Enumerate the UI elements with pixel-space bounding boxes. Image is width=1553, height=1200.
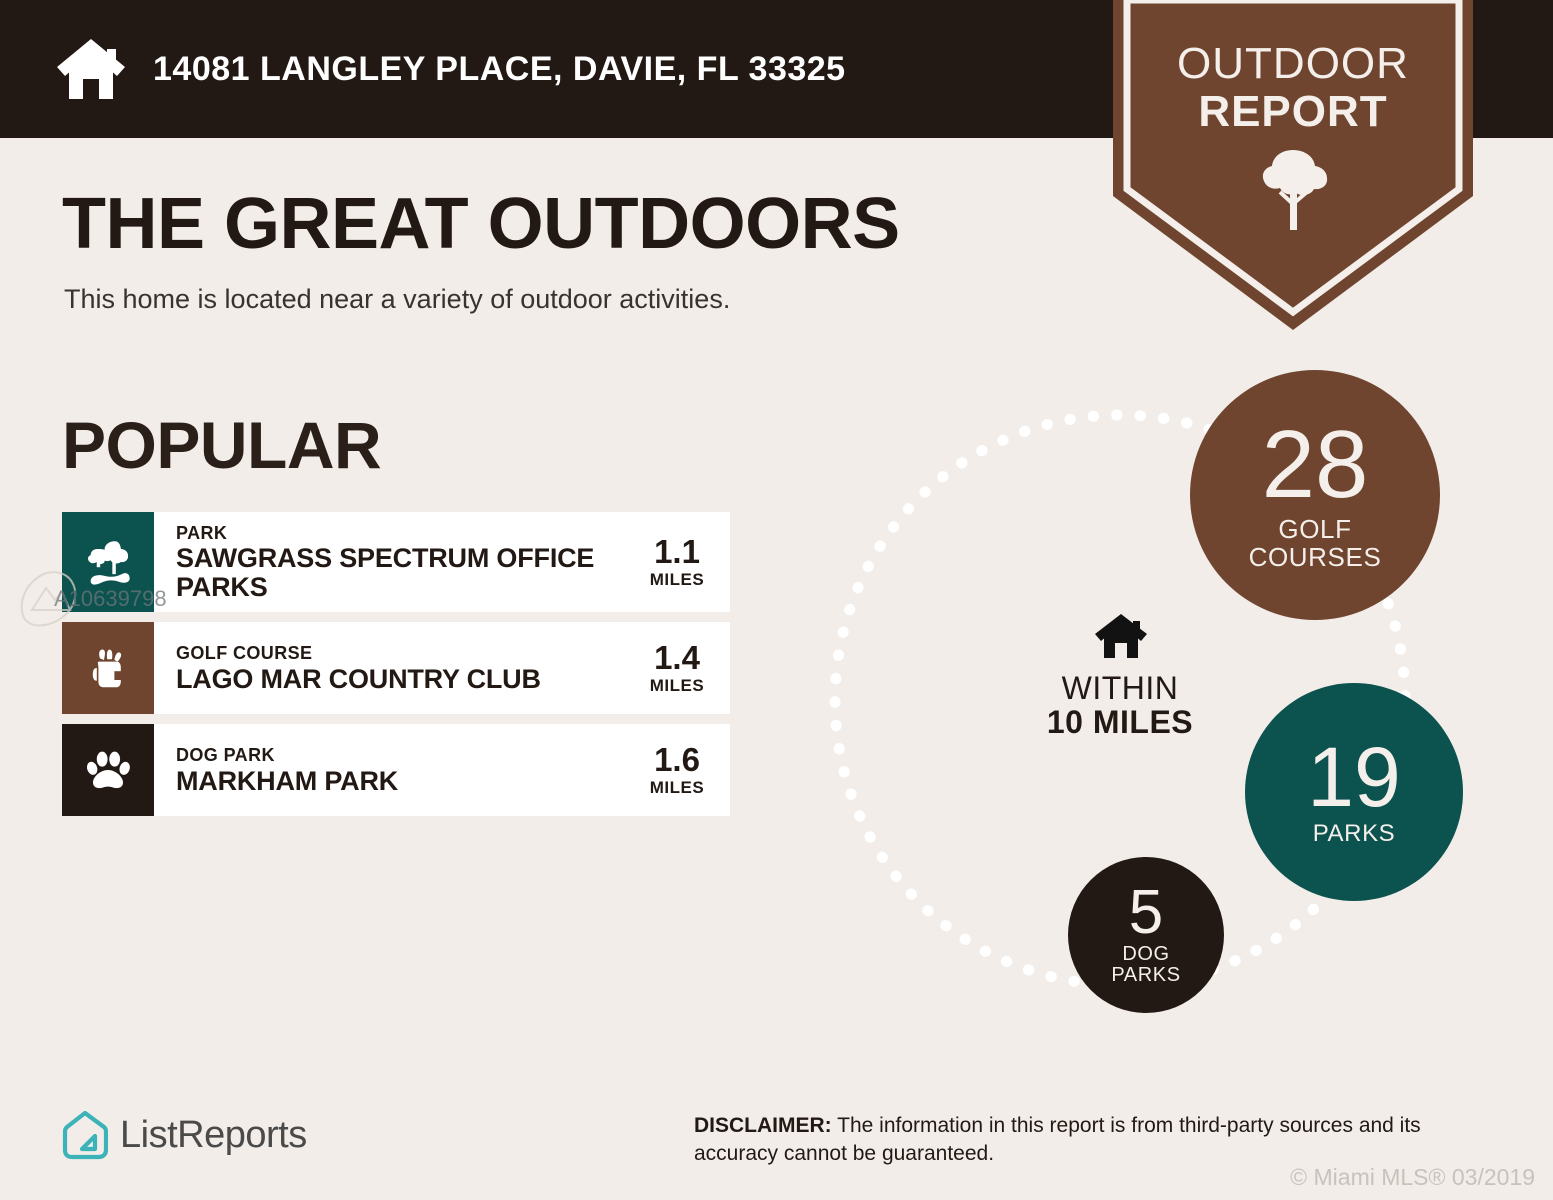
stat-circle-golf-courses: 28 GOLF COURSES (1190, 370, 1440, 620)
outdoor-report-page: 14081 LANGLEY PLACE, DAVIE, FL 33325 OUT… (0, 0, 1553, 1200)
stat-label-line-1: GOLF (1249, 516, 1382, 543)
list-item-distance: 1.6 MILES (638, 743, 716, 798)
list-item-distance: 1.4 MILES (638, 641, 716, 696)
home-icon (1093, 612, 1149, 660)
distance-unit: MILES (638, 570, 716, 590)
list-item-name: MARKHAM PARK (176, 767, 398, 796)
stat-label: GOLF COURSES (1249, 516, 1382, 571)
listreports-wordmark: ListReports (120, 1114, 307, 1157)
mls-copyright: © Miami MLS® 03/2019 (1290, 1164, 1535, 1191)
stat-value: 5 (1129, 884, 1163, 943)
list-item-texts: GOLF COURSE LAGO MAR COUNTRY CLUB (176, 642, 541, 694)
page-title: THE GREAT OUTDOORS (62, 188, 900, 260)
stat-circle-dog-parks: 5 DOG PARKS (1068, 857, 1224, 1013)
distance-value: 1.6 (638, 743, 716, 776)
stat-label: PARKS (1313, 821, 1396, 846)
mls-watermark: A10639798 (6, 560, 176, 630)
stat-circle-parks: 19 PARKS (1245, 683, 1463, 901)
paw-print-icon (62, 724, 154, 816)
disclaimer-label: DISCLAIMER: (694, 1114, 832, 1137)
list-item[interactable]: GOLF COURSE LAGO MAR COUNTRY CLUB 1.4 MI… (62, 622, 730, 714)
list-item-name: LAGO MAR COUNTRY CLUB (176, 665, 541, 694)
home-icon (55, 37, 127, 101)
stat-label-line-2: COURSES (1249, 544, 1382, 571)
list-item-category: PARK (176, 522, 626, 545)
list-item-category: GOLF COURSE (176, 642, 541, 665)
distance-value: 1.4 (638, 641, 716, 674)
list-item-distance: 1.1 MILES (638, 535, 716, 590)
list-item-body: PARK SAWGRASS SPECTRUM OFFICE PARKS 1.1 … (154, 512, 730, 612)
listreports-house-icon (62, 1110, 108, 1160)
list-item-body: GOLF COURSE LAGO MAR COUNTRY CLUB 1.4 MI… (154, 622, 730, 714)
listreports-logo[interactable]: ListReports (62, 1110, 307, 1160)
outdoor-report-badge: OUTDOOR REPORT (1113, 0, 1473, 330)
distance-value: 1.1 (638, 535, 716, 568)
within-line-2: 10 MILES (960, 706, 1280, 740)
distance-unit: MILES (638, 676, 716, 696)
popular-heading: POPULAR (62, 412, 381, 478)
within-line-1: WITHIN (960, 672, 1280, 706)
list-item-body: DOG PARK MARKHAM PARK 1.6 MILES (154, 724, 730, 816)
stat-value: 19 (1307, 738, 1400, 818)
list-item-category: DOG PARK (176, 744, 398, 767)
stat-label: DOG PARKS (1111, 944, 1180, 986)
distance-unit: MILES (638, 778, 716, 798)
mls-listing-id: A10639798 (54, 586, 167, 612)
golf-bag-icon (62, 622, 154, 714)
stat-value: 28 (1262, 419, 1369, 510)
list-item-name: SAWGRASS SPECTRUM OFFICE PARKS (176, 544, 626, 602)
within-radius-label: WITHIN 10 MILES (960, 672, 1280, 739)
list-item-texts: PARK SAWGRASS SPECTRUM OFFICE PARKS (176, 522, 626, 603)
page-subtitle: This home is located near a variety of o… (64, 284, 730, 315)
disclaimer: DISCLAIMER: The information in this repo… (694, 1112, 1504, 1167)
stat-label-line-2: PARKS (1111, 965, 1180, 986)
list-item[interactable]: DOG PARK MARKHAM PARK 1.6 MILES (62, 724, 730, 816)
property-address: 14081 LANGLEY PLACE, DAVIE, FL 33325 (153, 50, 846, 89)
stat-label-line-1: DOG (1111, 944, 1180, 965)
stat-label-line-1: PARKS (1313, 821, 1396, 846)
list-item-texts: DOG PARK MARKHAM PARK (176, 744, 398, 796)
